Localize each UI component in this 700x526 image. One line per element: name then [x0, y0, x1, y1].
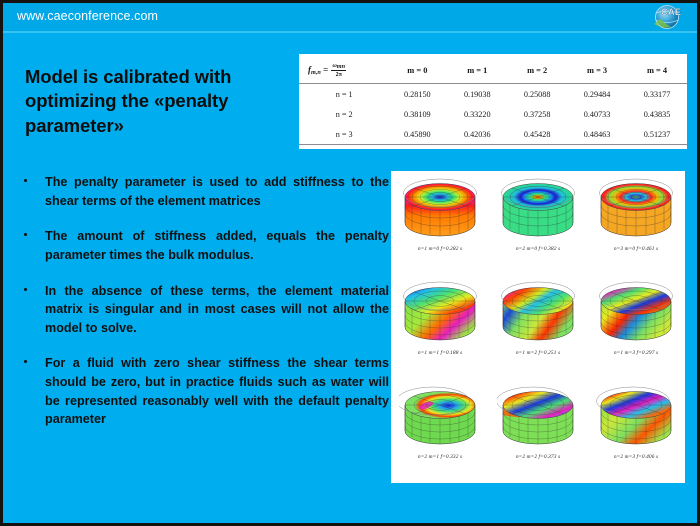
table-row: n = 2 0.38109 0.33220 0.37258 0.40733 0.…	[299, 104, 687, 124]
table-cell: 0.29484	[567, 84, 627, 105]
row-header: n = 2	[299, 104, 387, 124]
column-header: m = 0	[387, 57, 447, 84]
table-cell: 0.45428	[507, 124, 567, 145]
figure-cell: n=3 m=0 f=0.461 s	[588, 171, 684, 252]
table-cell: 0.33220	[447, 104, 507, 124]
mode-shape-render	[399, 277, 481, 349]
column-header: m = 3	[567, 57, 627, 84]
table-cell: 0.42036	[447, 124, 507, 145]
table-corner-formula: fm,n = ωmn 2π	[299, 57, 387, 84]
page-title: Model is calibrated with optimizing the …	[25, 65, 293, 138]
list-item: In the absence of these terms, the eleme…	[17, 282, 389, 338]
column-header: m = 4	[627, 57, 687, 84]
table-cell: 0.51237	[627, 124, 687, 145]
list-item: The penalty parameter is used to add sti…	[17, 173, 389, 210]
table-cell: 0.43835	[627, 104, 687, 124]
figure-caption: n=1 m=0 f=0.282 s	[392, 246, 488, 252]
figure-cell: n=1 m=3 f=0.297 s	[588, 275, 684, 356]
mode-shape-render	[595, 173, 677, 245]
mode-shape-render	[595, 381, 677, 453]
table-header-row: fm,n = ωmn 2π m = 0 m = 1 m = 2 m = 3 m …	[299, 57, 687, 84]
list-item-text: The penalty parameter is used to add sti…	[45, 175, 389, 208]
figure-row: n=1 m=0 f=0.282 s	[391, 171, 685, 275]
figure-cell: n=2 m=0 f=0.382 s	[490, 171, 586, 252]
table-cell: 0.33177	[627, 84, 687, 105]
globe-logo-icon: CAE	[649, 4, 689, 30]
figure-caption: n=2 m=0 f=0.382 s	[490, 246, 586, 252]
bullet-dot-icon	[24, 179, 27, 182]
frequency-table-panel: fm,n = ωmn 2π m = 0 m = 1 m = 2 m = 3 m …	[299, 54, 687, 149]
figure-caption: n=1 m=1 f=0.188 s	[392, 350, 488, 356]
table-cell: 0.45890	[387, 124, 447, 145]
mode-shape-render	[399, 173, 481, 245]
figure-cell: n=1 m=2 f=0.251 s	[490, 275, 586, 356]
mode-shape-render	[497, 277, 579, 349]
mode-shape-figure-panel: n=1 m=0 f=0.282 s	[391, 171, 685, 483]
table-cell: 0.48463	[567, 124, 627, 145]
mode-shape-render	[595, 277, 677, 349]
mode-shape-render	[497, 173, 579, 245]
mode-shape-render	[497, 381, 579, 453]
list-item-text: For a fluid with zero shear stiffness th…	[45, 356, 389, 426]
figure-caption: n=2 m=1 f=0.332 s	[392, 454, 488, 460]
figure-row: n=2 m=1 f=0.332 s	[391, 379, 685, 483]
column-header: m = 2	[507, 57, 567, 84]
figure-row: n=1 m=1 f=0.188 s	[391, 275, 685, 379]
frequency-table: fm,n = ωmn 2π m = 0 m = 1 m = 2 m = 3 m …	[299, 57, 687, 145]
list-item-text: The amount of stiffness added, equals th…	[45, 229, 389, 262]
table-cell: 0.40733	[567, 104, 627, 124]
figure-cell: n=2 m=2 f=0.373 s	[490, 379, 586, 460]
figure-cell: n=2 m=3 f=0.406 s	[588, 379, 684, 460]
bullet-dot-icon	[24, 360, 27, 363]
list-item: The amount of stiffness added, equals th…	[17, 227, 389, 264]
mode-shape-render	[399, 381, 481, 453]
logo-text: CAE	[661, 7, 681, 18]
figure-caption: n=2 m=3 f=0.406 s	[588, 454, 684, 460]
table-row: n = 3 0.45890 0.42036 0.45428 0.48463 0.…	[299, 124, 687, 145]
figure-caption: n=1 m=3 f=0.297 s	[588, 350, 684, 356]
table-cell: 0.28150	[387, 84, 447, 105]
table-cell: 0.19038	[447, 84, 507, 105]
table-cell: 0.38109	[387, 104, 447, 124]
figure-caption: n=2 m=2 f=0.373 s	[490, 454, 586, 460]
table-cell: 0.25088	[507, 84, 567, 105]
slide-root: www.caeconference.com CAE Model is calib…	[0, 0, 700, 526]
site-url-label: www.caeconference.com	[17, 9, 158, 23]
figure-cell: n=1 m=1 f=0.188 s	[392, 275, 488, 356]
table-row: n = 1 0.28150 0.19038 0.25088 0.29484 0.…	[299, 84, 687, 105]
figure-caption: n=1 m=2 f=0.251 s	[490, 350, 586, 356]
column-header: m = 1	[447, 57, 507, 84]
figure-cell: n=2 m=1 f=0.332 s	[392, 379, 488, 460]
bullet-list: The penalty parameter is used to add sti…	[17, 173, 389, 429]
list-item: For a fluid with zero shear stiffness th…	[17, 354, 389, 429]
bullet-dot-icon	[24, 233, 27, 236]
figure-caption: n=3 m=0 f=0.461 s	[588, 246, 684, 252]
row-header: n = 3	[299, 124, 387, 145]
figure-cell: n=1 m=0 f=0.282 s	[392, 171, 488, 252]
bullet-dot-icon	[24, 288, 27, 291]
table-cell: 0.37258	[507, 104, 567, 124]
row-header: n = 1	[299, 84, 387, 105]
header-divider	[3, 31, 697, 33]
list-item-text: In the absence of these terms, the eleme…	[45, 284, 389, 335]
